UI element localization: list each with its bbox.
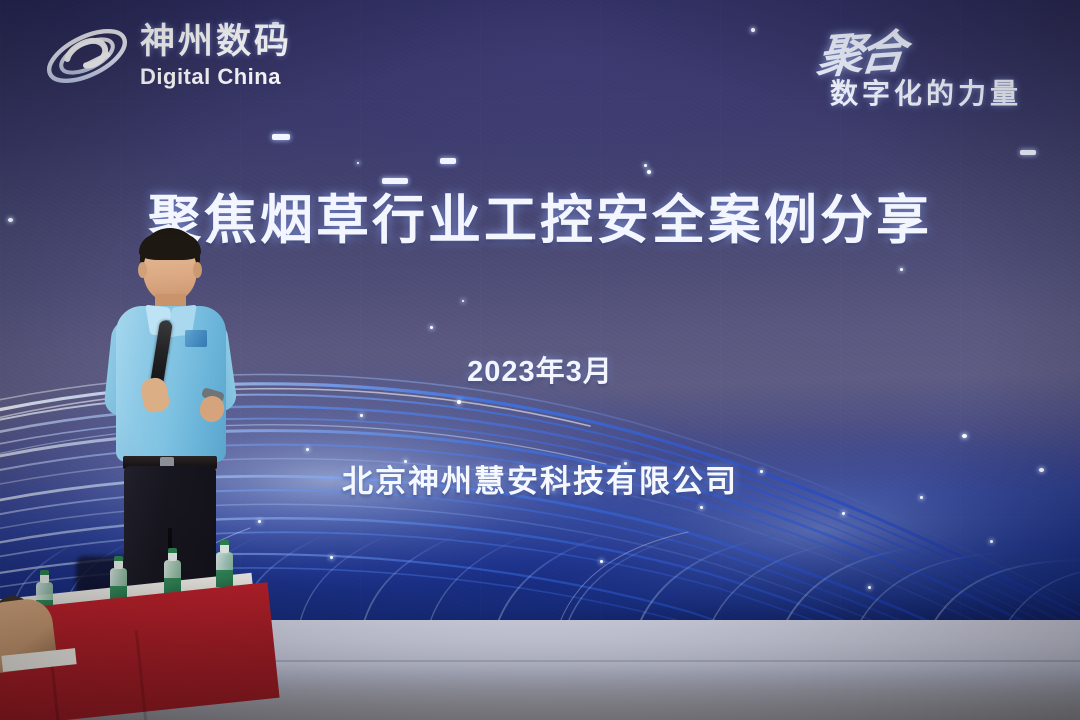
speaker-ear-right [193,262,202,278]
speaker-chest-logo [185,330,207,347]
spiral-swoosh-icon [40,20,134,92]
digital-china-chinese: 神州数码 [140,22,292,62]
speaker-hair-top [139,234,201,260]
speaker-ear-left [138,262,147,278]
juhe-subtitle: 数字化的力量 [830,72,1022,112]
digital-china-logo: 神州数码 Digital China [40,16,310,100]
stage-photo-scene: 聚焦烟草行业工控安全案例分享 2023年3月 北京神州慧安科技有限公司 [0,0,1080,720]
juhe-logo: 聚合 数字化的力量 [808,18,1058,114]
digital-china-english: Digital China [140,64,292,90]
digital-china-wordmark: 神州数码 Digital China [140,22,292,90]
